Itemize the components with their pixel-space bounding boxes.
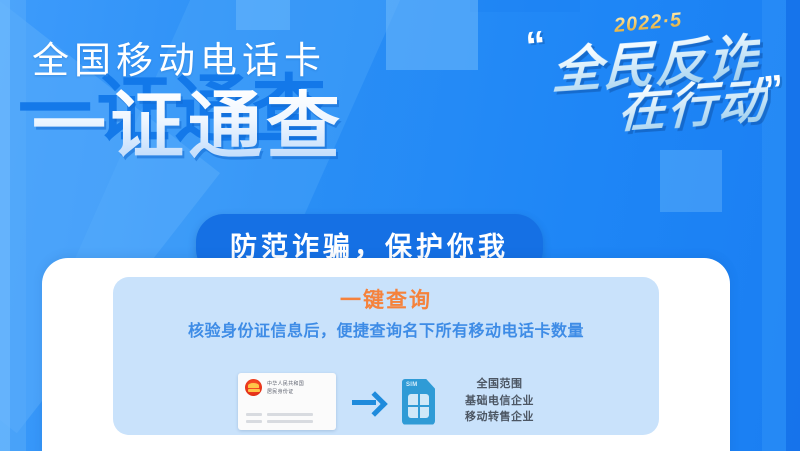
national-emblem-icon [245,379,262,396]
arrow-right-icon [352,391,386,413]
id-card-country: 中华人民共和国 [267,381,304,387]
quote-open-icon: “ [524,25,548,67]
background-square-right [660,150,722,212]
panel-subtitle: 核验身份证信息后，便捷查询名下所有移动电话卡数量 [113,324,659,340]
id-card-graphic: 中华人民共和国 居民身份证 [238,373,336,430]
background-right-stripe [786,0,800,451]
scope-item: 移动转售企业 [465,411,534,425]
headline-block: 全国移动电话卡 一证通查 一证通查 [32,42,552,181]
poster-canvas: 全国移动电话卡 一证通查 一证通查 防范诈骗，保护你我 2022·5 “ 全民反… [0,0,800,451]
scope-item: 基础电信企业 [465,395,534,409]
id-card-line [246,420,313,423]
campaign-line-2: 在行动 [617,61,769,142]
query-info-panel: 一键查询 核验身份证信息后，便捷查询名下所有移动电话卡数量 中华人民共和国 居民… [113,277,659,435]
campaign-logo: 2022·5 “ 全民反诈 在行动 ” [522,8,784,120]
sim-card-icon: SIM [402,379,435,425]
background-square-small [236,0,290,30]
coverage-scope-list: 全国范围 基础电信企业 移动转售企业 [465,378,534,425]
id-card-line [246,413,313,416]
big-title-wrap: 一证通查 一证通查 [32,89,552,181]
sim-chip-icon [408,394,429,418]
id-card-header: 中华人民共和国 居民身份证 [245,379,329,396]
background-left-stripe [0,0,10,451]
id-card-placeholder-lines [246,413,313,423]
query-flow-row: 中华人民共和国 居民身份证 SIM 全国范围 基础电信企业 移动转售企业 [113,373,659,430]
quote-close-icon: ” [762,69,786,111]
panel-title: 一键查询 [113,277,659,311]
id-card-doc-name: 居民身份证 [267,389,304,395]
scope-item: 全国范围 [477,378,523,392]
sim-card-label: SIM [406,382,418,388]
id-card-text: 中华人民共和国 居民身份证 [267,381,304,395]
page-title: 一证通查 [32,89,344,163]
